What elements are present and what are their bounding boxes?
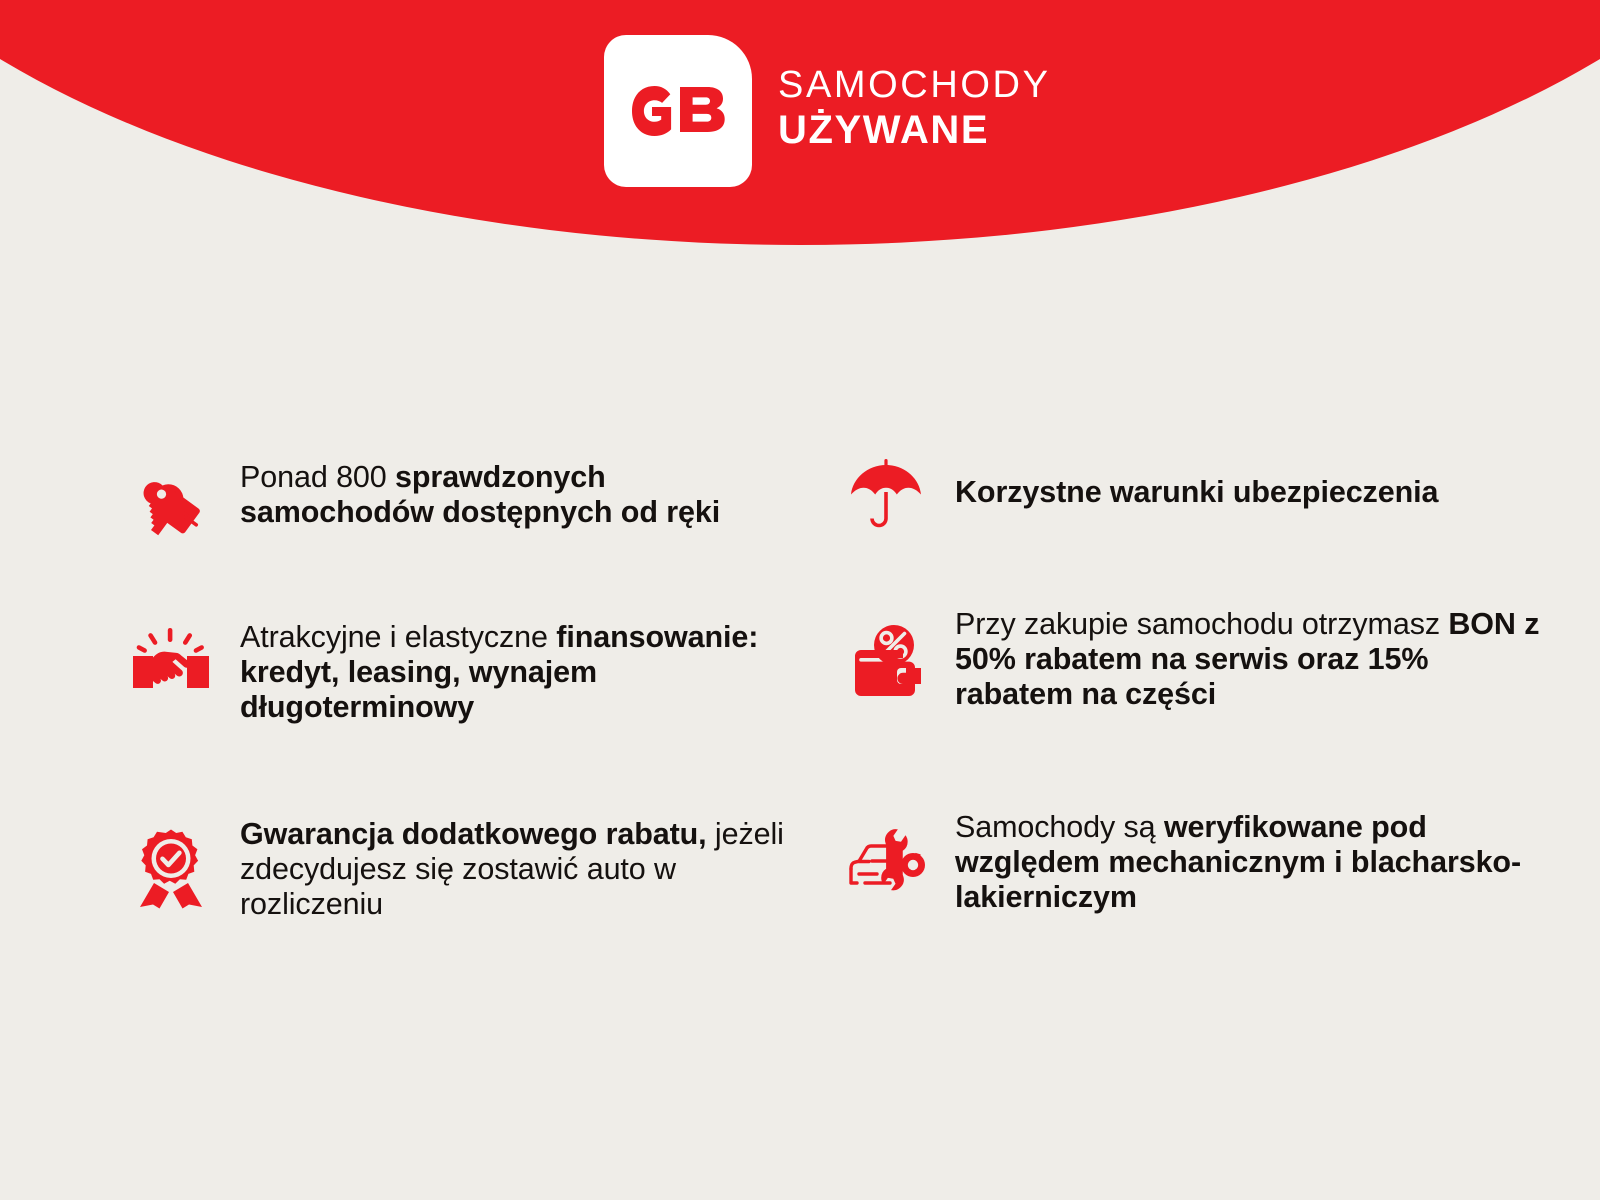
feature-strong: Korzystne warunki ubezpieczenia [955,475,1438,509]
feature-lead: Atrakcyjne i elastyczne [240,620,556,654]
feature-text-insurance: Korzystne warunki ubezpieczenia [955,455,1438,510]
feature-lead: Ponad 800 [240,460,395,494]
umbrella-icon [845,455,927,537]
handshake-icon [130,624,212,706]
feature-text-guarantee: Gwarancja dodatkowego rabatu, jeżeli zde… [240,815,790,922]
brand-logo[interactable]: SAMOCHODY UŻYWANE [604,33,1051,188]
car-keys-icon [130,468,212,550]
feature-lead: Przy zakupie samochodu otrzymasz [955,607,1448,641]
feature-item-verified: Samochody są weryfikowane pod względem m… [845,808,1545,915]
feature-text-voucher: Przy zakupie samochodu otrzymasz BON z 5… [955,605,1545,712]
feature-item-insurance: Korzystne warunki ubezpieczenia [845,455,1438,537]
feature-text-financing: Atrakcyjne i elastyczne finansowanie: kr… [240,618,790,725]
logo-wordmark-line2: UŻYWANE [778,110,1051,150]
award-rosette-icon [130,827,212,909]
feature-item-guarantee: Gwarancja dodatkowego rabatu, jeżeli zde… [130,815,790,922]
wallet-percent-icon [845,621,927,703]
feature-item-financing: Atrakcyjne i elastyczne finansowanie: kr… [130,618,790,725]
feature-strong: Gwarancja dodatkowego rabatu, [240,817,707,851]
feature-text-verified: Samochody są weryfikowane pod względem m… [955,808,1545,915]
feature-item-keys: Ponad 800 sprawdzonych samochodów dostęp… [130,458,790,550]
car-wrench-gear-icon [845,820,927,902]
gb-monogram-icon [630,86,726,136]
feature-lead: Samochody są [955,810,1164,844]
logo-wordmark-line1: SAMOCHODY [778,66,1051,104]
logo-wordmark: SAMOCHODY UŻYWANE [778,66,1051,156]
logo-tile [604,35,752,187]
feature-item-voucher: Przy zakupie samochodu otrzymasz BON z 5… [845,605,1545,712]
feature-text-keys: Ponad 800 sprawdzonych samochodów dostęp… [240,458,790,530]
